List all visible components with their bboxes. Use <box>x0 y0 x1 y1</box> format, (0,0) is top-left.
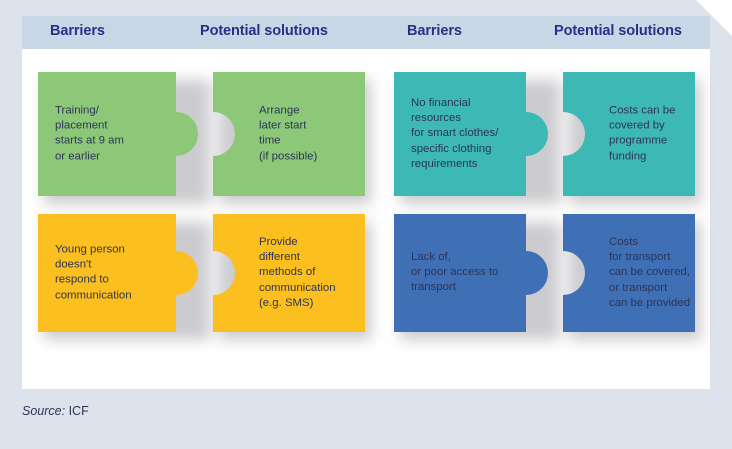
figure-container: Barriers Potential solutions Barriers Po… <box>0 0 732 449</box>
piece-label: Arrange later start time (if possible) <box>259 104 359 165</box>
piece-label: Lack of, or poor access to transport <box>411 250 535 296</box>
puzzle-piece-solution-programme-funding: Costs can be covered by programme fundin… <box>563 72 695 196</box>
puzzle-piece-solution-transport-covered: Costs for transport can be covered, or t… <box>563 214 695 332</box>
puzzle-piece-barrier-no-response: Young person doesn't respond to communic… <box>38 214 204 332</box>
puzzle-piece-solution-different-methods: Provide different methods of communicati… <box>213 214 365 332</box>
puzzle-piece-barrier-no-financial-resources: No financial resources for smart clothes… <box>394 72 554 196</box>
column-header-solutions-left: Potential solutions <box>200 23 328 39</box>
column-header-barriers-right: Barriers <box>407 23 462 39</box>
piece-label: Costs for transport can be covered, or t… <box>609 235 709 311</box>
source-label: Source: <box>22 404 65 418</box>
puzzle-piece-barrier-early-start: Training/ placement starts at 9 am or ea… <box>38 72 204 196</box>
source-note: Source: ICF <box>22 404 89 418</box>
piece-label: Training/ placement starts at 9 am or ea… <box>55 104 179 165</box>
column-header-band: Barriers Potential solutions Barriers Po… <box>22 16 710 49</box>
piece-label: Costs can be covered by programme fundin… <box>609 104 709 165</box>
source-value: ICF <box>69 404 89 418</box>
column-header-barriers-left: Barriers <box>50 23 105 39</box>
puzzle-piece-barrier-transport-access: Lack of, or poor access to transport <box>394 214 554 332</box>
piece-label: No financial resources for smart clothes… <box>411 96 535 172</box>
piece-label: Young person doesn't respond to communic… <box>55 243 179 304</box>
piece-label: Provide different methods of communicati… <box>259 235 359 311</box>
column-header-solutions-right: Potential solutions <box>554 23 682 39</box>
puzzle-piece-solution-later-start: Arrange later start time (if possible) <box>213 72 365 196</box>
